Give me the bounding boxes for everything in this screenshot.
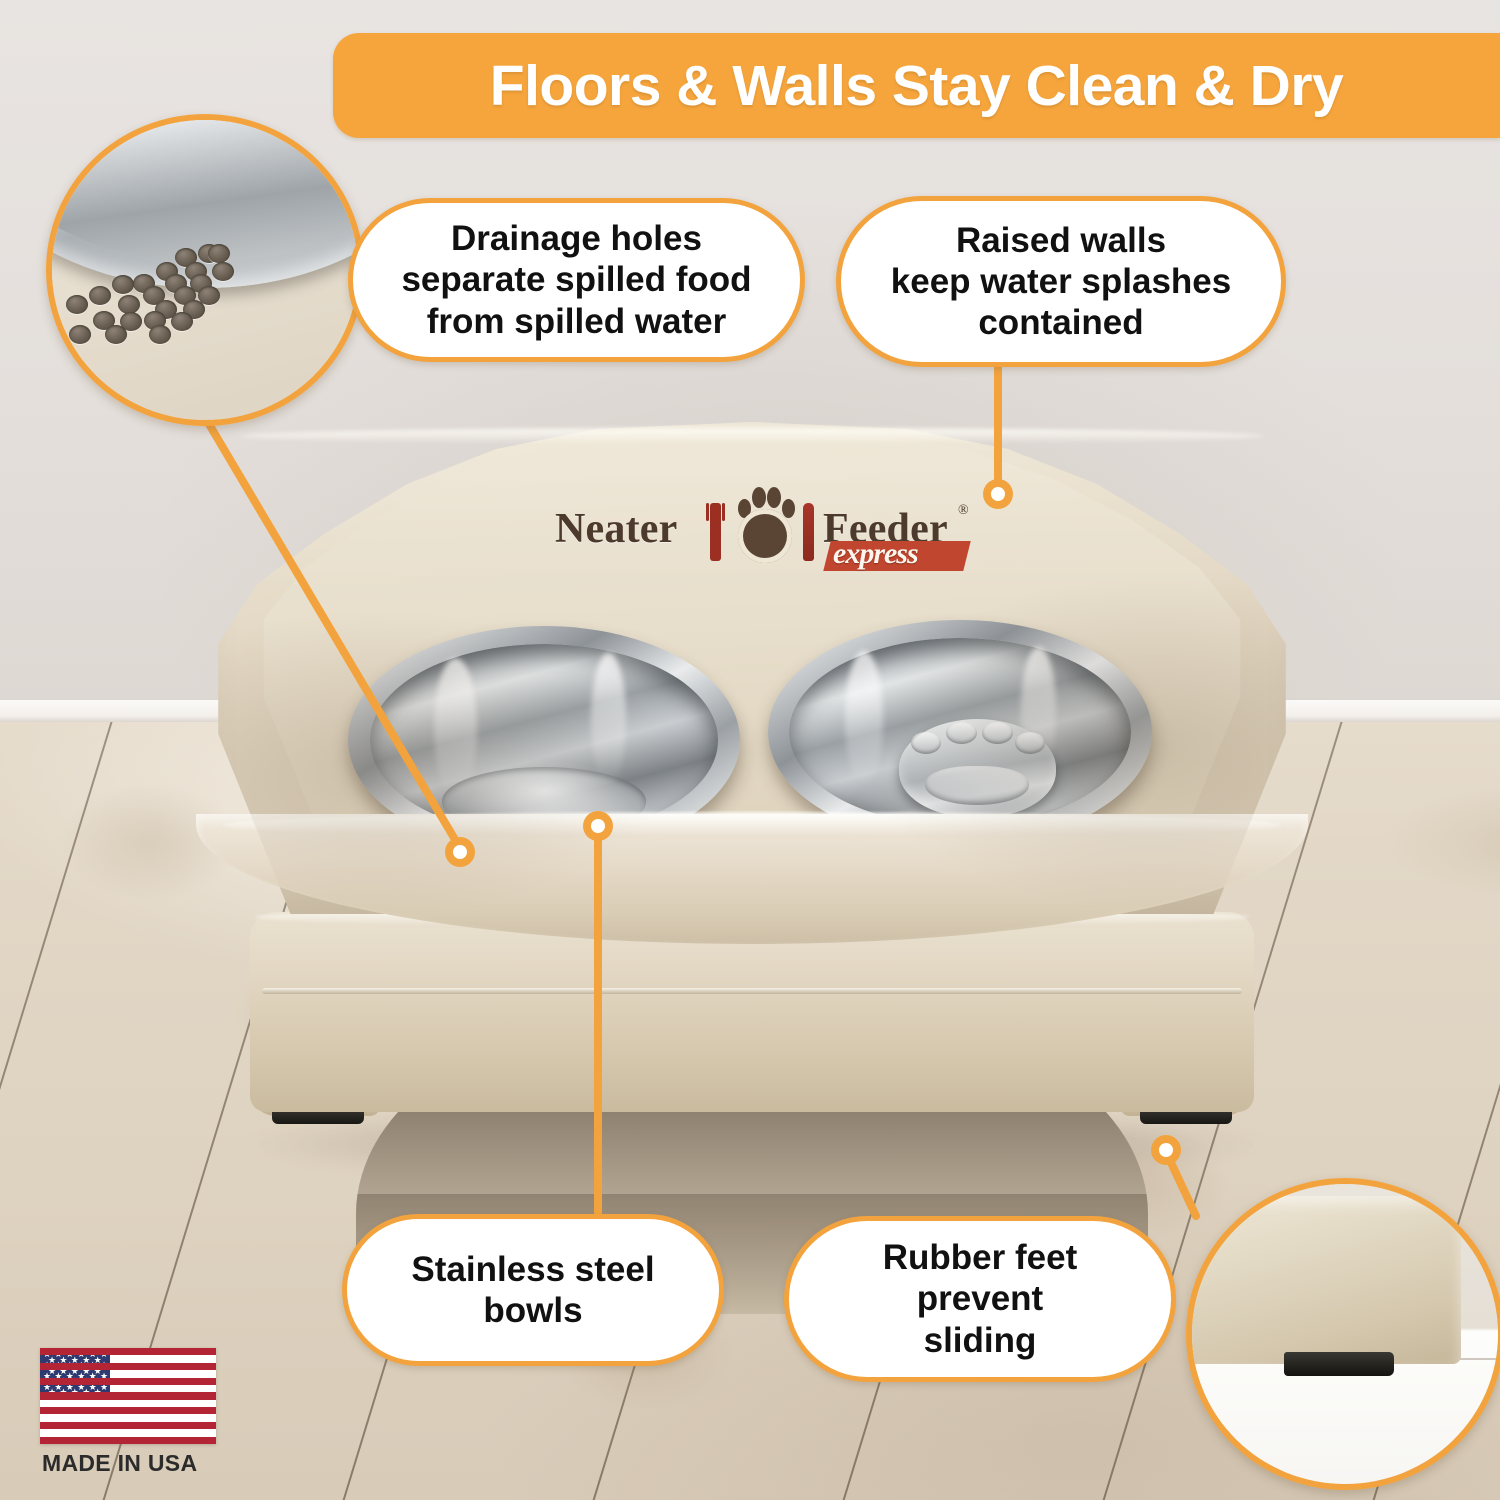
bowl-plate-inner	[746, 517, 784, 555]
flag-stripe	[40, 1378, 216, 1385]
callout-line: separate spilled food	[401, 259, 751, 300]
callout-line: Stainless steel	[411, 1249, 654, 1290]
made-in-usa-label: MADE IN USA	[42, 1450, 222, 1477]
bowl-reflection	[845, 651, 883, 785]
callout-line: Raised walls	[891, 220, 1231, 261]
callout-line: Rubber feet	[883, 1237, 1077, 1278]
bowl-reflection	[591, 653, 626, 785]
closeup-bowl-rim-inner	[46, 114, 364, 262]
logo-word-express: express	[833, 537, 973, 571]
callout-rubber-feet: Rubber feet prevent sliding	[784, 1216, 1176, 1382]
callout-line: keep water splashes	[891, 261, 1231, 302]
neater-feeder-logo: Neater Feeder ® express	[555, 483, 975, 579]
product-infographic: Neater Feeder ® express	[0, 0, 1500, 1500]
drainage-hole	[149, 325, 171, 344]
drainage-hole	[171, 312, 193, 331]
paw-toe-icon	[911, 732, 941, 754]
feeder-rim-highlight	[240, 428, 1264, 444]
callout-line: prevent	[883, 1278, 1077, 1319]
drainage-hole	[212, 262, 234, 281]
drainage-hole	[208, 244, 230, 263]
header-banner: Floors & Walls Stay Clean & Dry	[333, 33, 1500, 138]
drainage-hole	[66, 295, 88, 314]
callout-line: contained	[891, 302, 1231, 343]
flag-stripe	[40, 1348, 216, 1355]
callout-line: from spilled water	[401, 301, 751, 342]
callout-drainage-holes: Drainage holes separate spilled food fro…	[348, 198, 805, 362]
base-groove	[262, 988, 1242, 994]
flag-stripe	[40, 1437, 216, 1444]
rubber-foot-closeup	[1186, 1178, 1500, 1490]
drainage-hole	[89, 286, 111, 305]
drainage-holes-closeup	[46, 114, 364, 426]
knife-icon	[803, 503, 814, 561]
made-in-usa-badge: ★★★★★★★★★★★★★★★★★★★★★★★★★★★★★★★★★★★★★★★★…	[40, 1348, 216, 1476]
feeder-lip-edge-highlight	[222, 812, 1282, 838]
paw-toe-icon	[982, 722, 1013, 745]
drainage-hole	[112, 275, 134, 294]
paw-pad-icon	[925, 766, 1029, 805]
us-flag-icon: ★★★★★★★★★★★★★★★★★★★★★★★★★★★★★★★★★★★★★★★★…	[40, 1348, 216, 1444]
callout-raised-walls: Raised walls keep water splashes contain…	[836, 196, 1286, 367]
paw-toe-icon	[946, 722, 977, 745]
flag-stripe	[40, 1407, 216, 1414]
callout-stainless-steel-bowls: Stainless steel bowls	[342, 1214, 724, 1366]
paw-print-slow-feed-dome	[899, 719, 1056, 818]
banner-title: Floors & Walls Stay Clean & Dry	[490, 53, 1343, 119]
flag-stripe	[40, 1363, 216, 1370]
registered-trademark: ®	[958, 503, 969, 519]
closeup-rubber-foot	[1284, 1352, 1394, 1376]
callout-line: Drainage holes	[401, 218, 751, 259]
callout-line: bowls	[411, 1290, 654, 1331]
closeup-feeder-leg	[1186, 1196, 1461, 1364]
flag-stripe	[40, 1422, 216, 1429]
stainless-bowl-right	[768, 620, 1152, 844]
paw-print-icon	[732, 487, 798, 563]
paw-toe-icon	[1015, 732, 1045, 754]
fork-icon	[710, 503, 721, 561]
callout-line: sliding	[883, 1320, 1077, 1361]
logo-word-neater: Neater	[555, 505, 677, 553]
flag-stripe	[40, 1392, 216, 1399]
